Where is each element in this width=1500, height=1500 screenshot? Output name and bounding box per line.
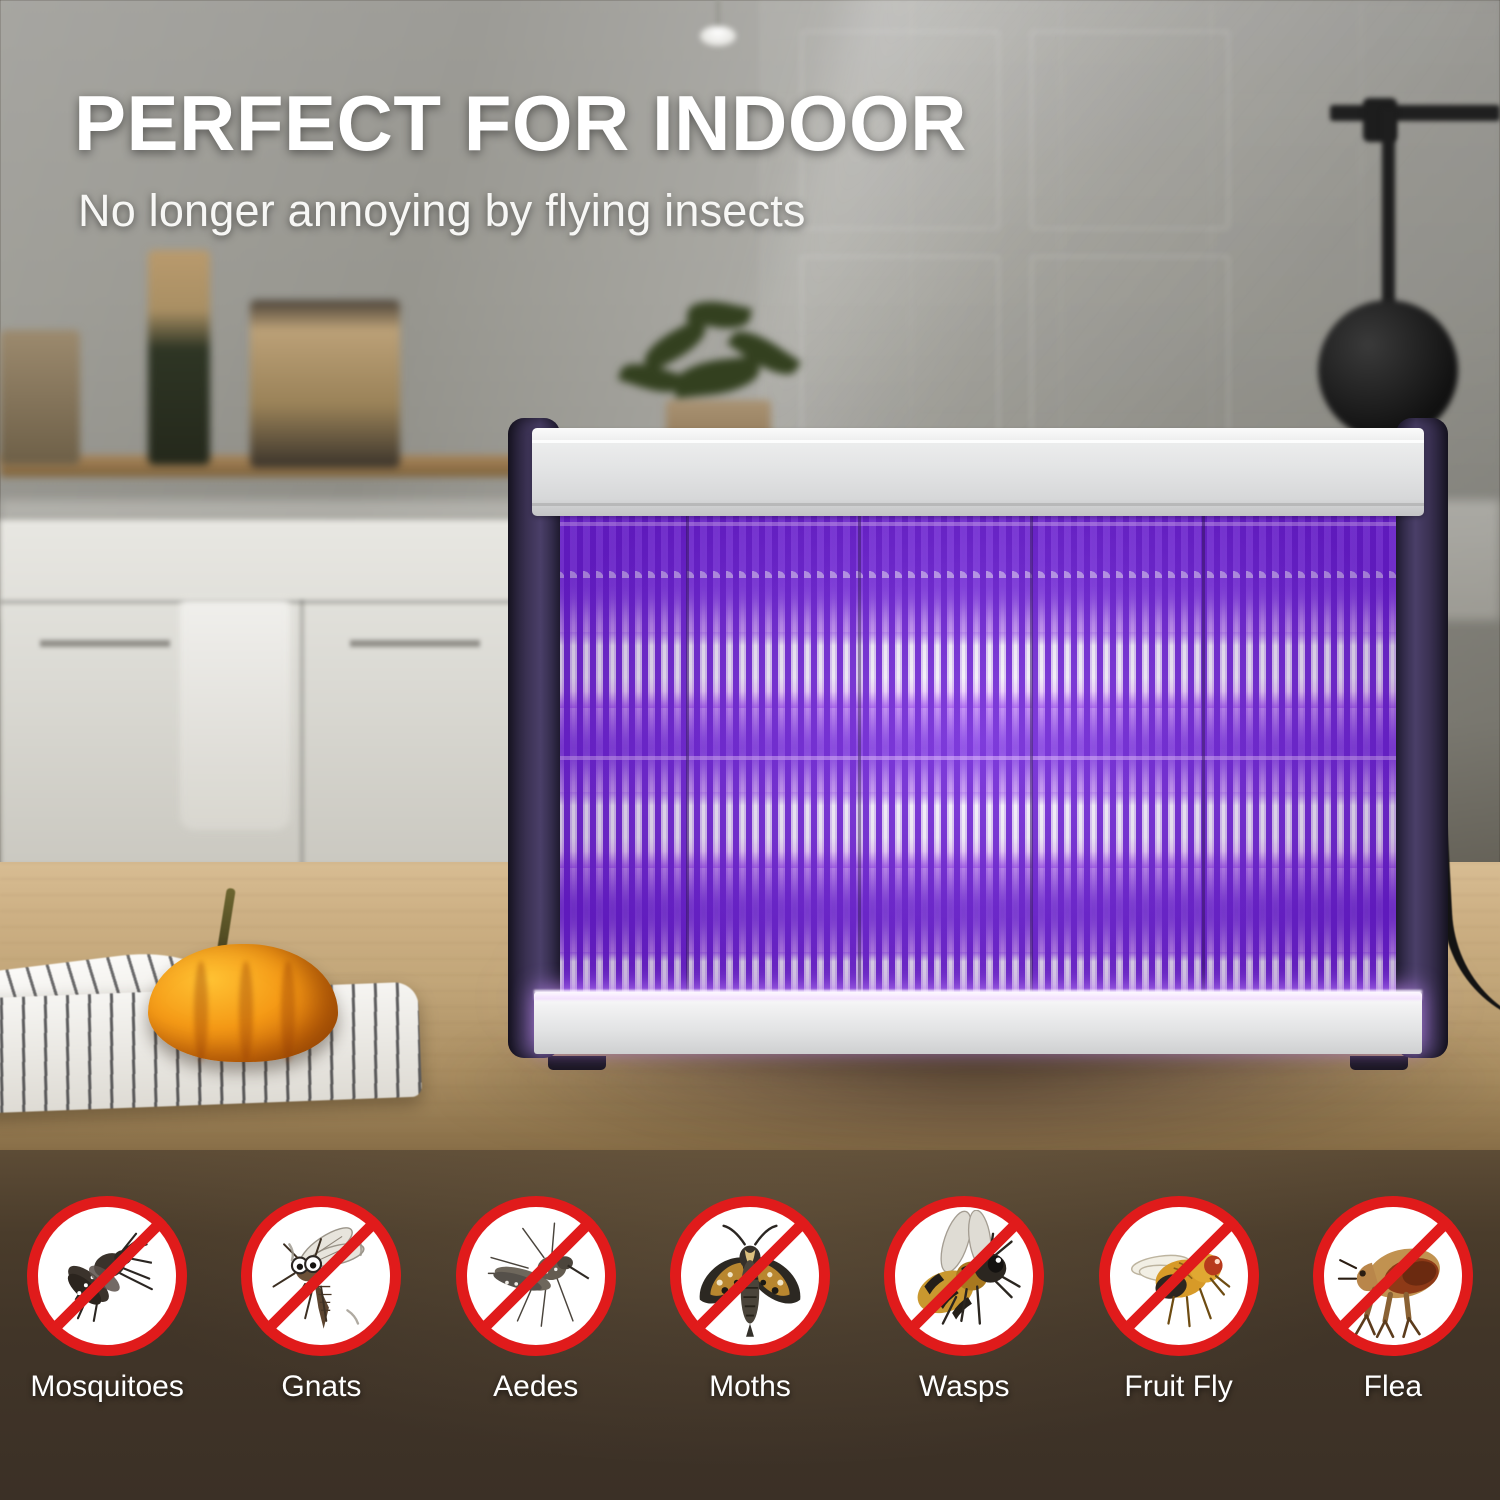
pest-label: Gnats	[281, 1370, 361, 1404]
shelf-bottle	[148, 250, 210, 465]
pest-item-gnats: Gnats	[214, 1196, 428, 1446]
shelf-canister	[250, 300, 400, 468]
device-foot-left	[548, 1056, 606, 1070]
pest-icon-row: Mosquitoes	[0, 1196, 1500, 1446]
pest-label: Flea	[1364, 1370, 1422, 1404]
collection-tray-lip	[534, 990, 1422, 1000]
pest-item-aedes: Aedes	[429, 1196, 643, 1446]
shelf-jar-small	[0, 330, 80, 465]
wall-lamp-arm	[1330, 105, 1500, 121]
grid-rail-top	[538, 522, 1418, 526]
cabinet-handle-2	[350, 640, 480, 647]
prohibition-badge	[884, 1196, 1044, 1356]
pest-item-fruit-fly: Fruit Fly	[1071, 1196, 1285, 1446]
page-subtitle: No longer annoying by flying insects	[78, 185, 806, 237]
grid-rail-mid	[538, 756, 1418, 760]
pest-label: Aedes	[493, 1370, 578, 1404]
pest-label: Mosquitoes	[30, 1370, 183, 1404]
pest-item-flea: Flea	[1286, 1196, 1500, 1446]
bug-zapper-device[interactable]	[508, 418, 1448, 1058]
cabinet-seam-2	[300, 600, 304, 880]
pumpkin-rib	[194, 961, 208, 1062]
pest-label: Wasps	[919, 1370, 1010, 1404]
device-top-panel	[532, 428, 1424, 516]
collection-tray	[534, 992, 1422, 1054]
product-marketing-image: PERFECT FOR INDOOR No longer annoying by…	[0, 0, 1500, 1500]
grid-post	[858, 514, 861, 1006]
pendant-light-bulb	[700, 26, 736, 46]
pest-label: Moths	[709, 1370, 791, 1404]
pest-item-mosquitoes: Mosquitoes	[0, 1196, 214, 1446]
pumpkin-rib	[239, 961, 253, 1062]
prohibition-badge	[670, 1196, 830, 1356]
prohibition-badge	[1099, 1196, 1259, 1356]
electric-grid-window	[538, 514, 1418, 1006]
grid-post	[1030, 514, 1033, 1006]
pumpkin-rib	[281, 961, 295, 1062]
wall-lamp-stem	[1382, 110, 1395, 310]
wire-grid-caps	[538, 524, 1418, 578]
grid-post	[686, 514, 689, 1006]
pest-item-moths: Moths	[643, 1196, 857, 1446]
prohibition-badge	[27, 1196, 187, 1356]
hanging-towel	[180, 600, 290, 830]
grid-post	[1202, 514, 1205, 1006]
pest-item-wasps: Wasps	[857, 1196, 1071, 1446]
cabinet-handle-1	[40, 640, 170, 647]
device-foot-right	[1350, 1056, 1408, 1070]
prohibition-badge	[1313, 1196, 1473, 1356]
prohibition-badge	[456, 1196, 616, 1356]
pest-label: Fruit Fly	[1124, 1370, 1232, 1404]
prohibition-badge	[241, 1196, 401, 1356]
wall-panel-2	[1030, 30, 1230, 230]
page-title: PERFECT FOR INDOOR	[74, 84, 967, 162]
electrified-wire-grid	[538, 514, 1418, 1006]
